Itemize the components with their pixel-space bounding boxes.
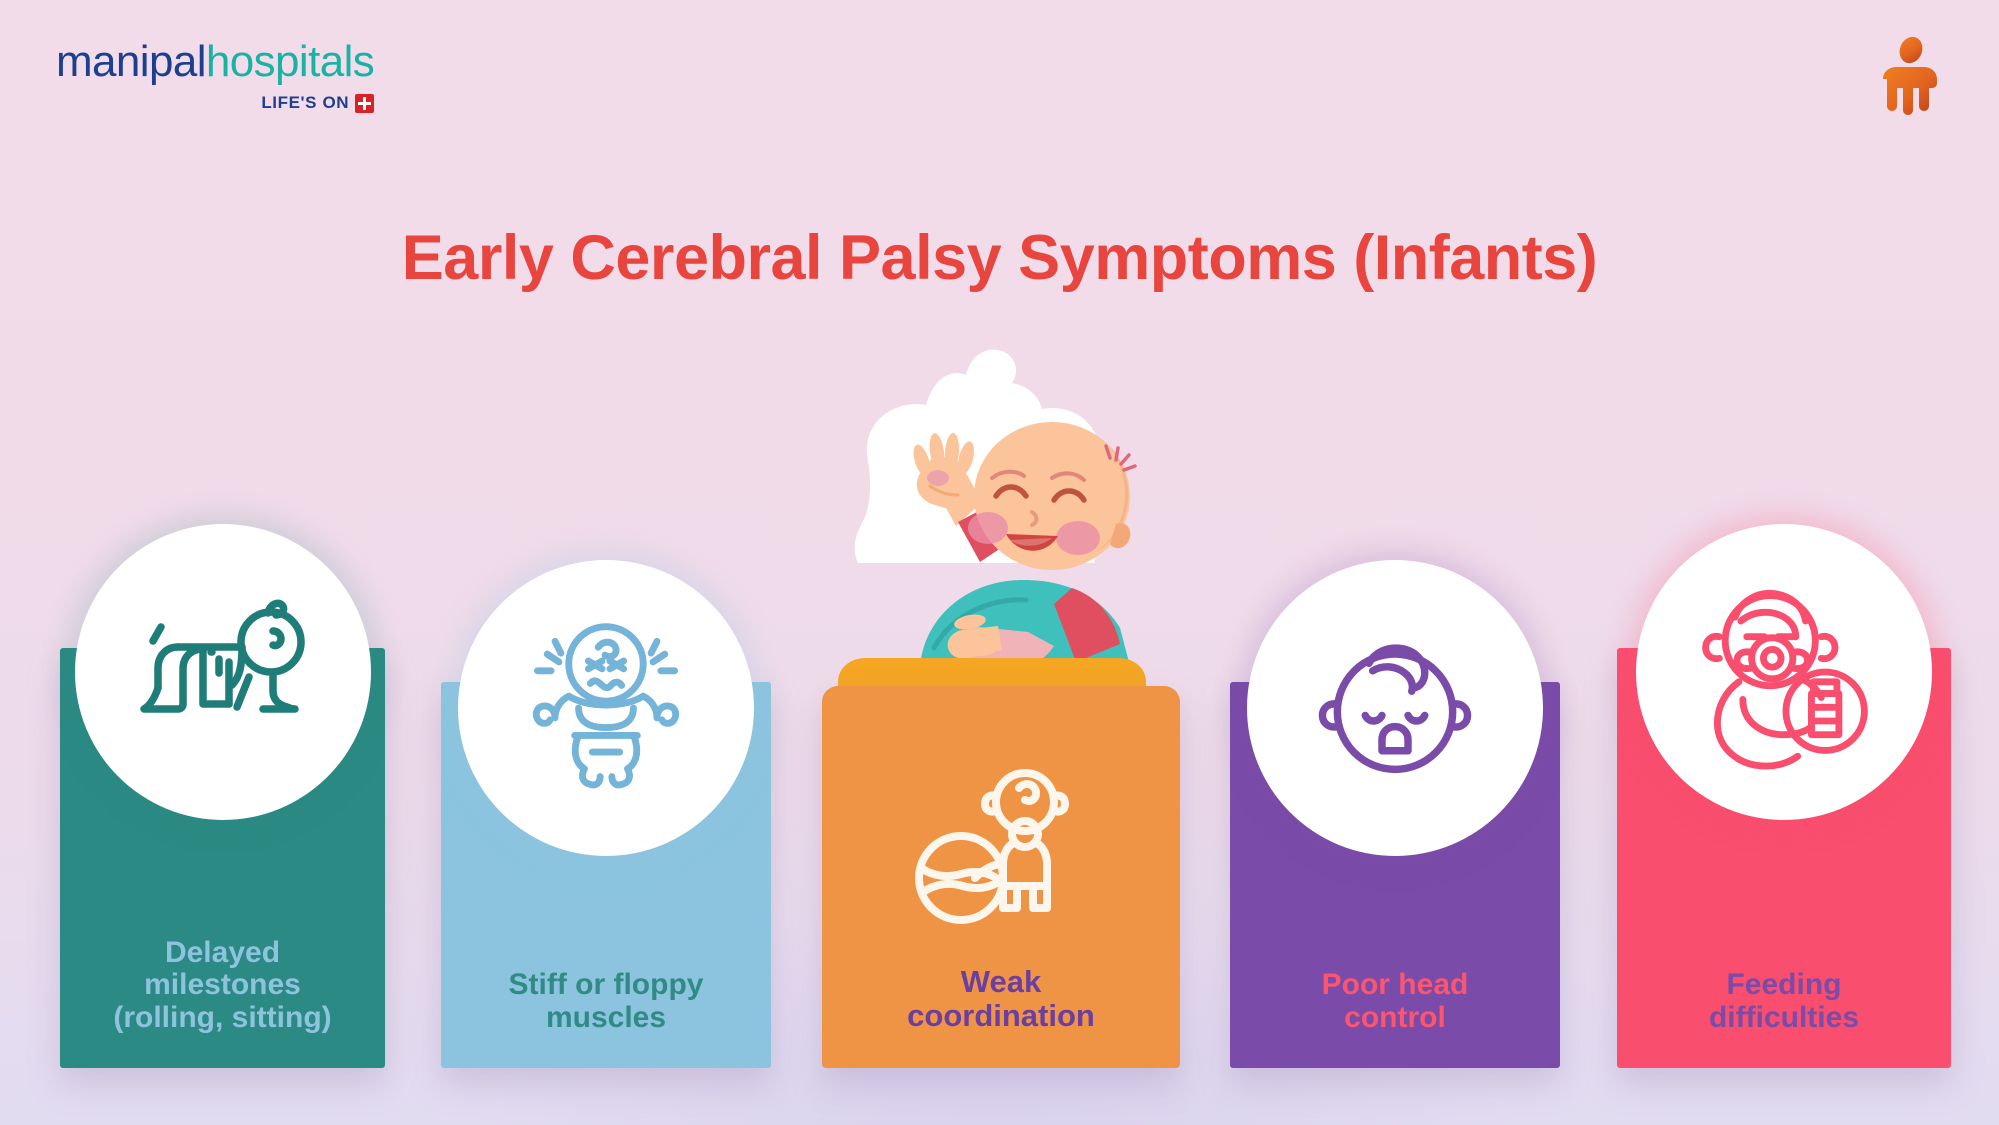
crawling-baby-icon <box>123 587 323 757</box>
crying-stiff-baby-icon <box>508 610 704 806</box>
symptom-card-delayed-milestones[interactable]: Delayed milestones (rolling, sitting) <box>60 524 385 1068</box>
icon-circle <box>75 524 371 820</box>
icon-circle <box>1247 560 1543 856</box>
symptom-card-poor-head-control[interactable]: Poor head control <box>1230 560 1560 1068</box>
waving-baby-illustration <box>810 326 1192 708</box>
card-label: Poor head control <box>1230 969 1560 1034</box>
icon-circle <box>458 560 754 856</box>
symptom-cards-row: Delayed milestones (rolling, sitting) <box>0 0 1999 1125</box>
icon-circle <box>1636 524 1932 820</box>
card-label: Feeding difficulties <box>1617 969 1951 1034</box>
card-label: Weak coordination <box>822 965 1180 1032</box>
baby-with-ball-icon <box>901 768 1101 928</box>
infographic-canvas: manipalhospitals LIFE'S ON Early Cerebra… <box>0 0 1999 1125</box>
symptom-card-stiff-floppy-muscles[interactable]: Stiff or floppy muscles <box>441 560 771 1068</box>
baby-with-bottle-icon <box>1686 574 1882 770</box>
symptom-card-weak-coordination[interactable]: Weak coordination <box>822 326 1180 1068</box>
card-label: Stiff or floppy muscles <box>441 969 771 1034</box>
card-label: Delayed milestones (rolling, sitting) <box>60 937 385 1034</box>
crying-baby-face-icon <box>1302 615 1488 801</box>
symptom-card-feeding-difficulties[interactable]: Feeding difficulties <box>1617 524 1951 1068</box>
card-body: Weak coordination <box>822 686 1180 1068</box>
